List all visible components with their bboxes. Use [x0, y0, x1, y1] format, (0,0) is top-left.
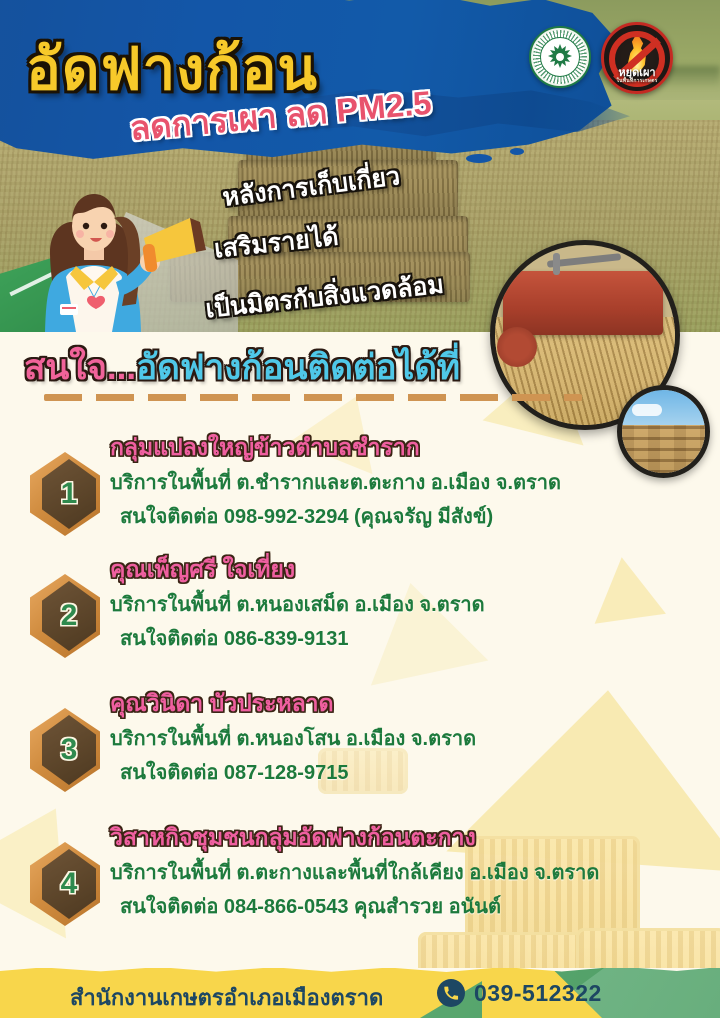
stacked-bales-photo [617, 385, 710, 478]
entry-number-badge: 1 [30, 452, 100, 536]
badge-number: 2 [61, 601, 78, 631]
badge-number: 1 [61, 479, 78, 509]
footer-phone-number: 039-512322 [474, 980, 602, 1007]
entry-service-area: บริการในพื้นที่ ต.ชำรากและต.ตะกาง อ.เมือ… [110, 466, 561, 498]
entry-number-badge: 3 [30, 708, 100, 792]
dashed-divider [44, 394, 582, 401]
entry-contact[interactable]: สนใจติดต่อ 087-128-9715 [120, 756, 348, 788]
entry-contact[interactable]: สนใจติดต่อ 086-839-9131 [120, 622, 348, 654]
entry-title: คุณเพ็ญศรี ใจเที่ยง [110, 552, 295, 588]
baler-wheel [497, 327, 537, 367]
entry-number-badge: 2 [30, 574, 100, 658]
brush-speck [510, 148, 524, 155]
entry-contact[interactable]: สนใจติดต่อ 098-992-3294 (คุณจรัญ มีสังข์… [120, 500, 493, 532]
section-header-pink: สนใจ... [24, 348, 136, 387]
entry-service-area: บริการในพื้นที่ ต.หนองเสม็ด อ.เมือง จ.ตร… [110, 588, 485, 620]
cloud [632, 404, 662, 416]
stop-burning-logo: หยุดเผา ในพื้นที่การเกษตร [601, 22, 673, 94]
garuda-emblem-icon [540, 37, 580, 77]
deity-figure-icon [545, 42, 575, 72]
bale-stack [622, 425, 705, 473]
baler-arm-vertical [553, 253, 560, 275]
badge-number: 4 [61, 869, 78, 899]
hay-bale-illustration [418, 932, 586, 968]
entry-contact[interactable]: สนใจติดต่อ 084-866-0543 คุณสำรวย อนันต์ [120, 890, 501, 922]
baler-body [503, 271, 663, 335]
stop-burning-label: หยุดเผา ในพื้นที่การเกษตร [604, 68, 670, 84]
farmer-woman-illustration [18, 178, 228, 332]
decorative-triangle [586, 552, 666, 623]
entry-title: วิสาหกิจชุมชนกลุ่มอัดฟางก้อนตะกาง [110, 820, 476, 856]
footer-office-name: สำนักงานเกษตรอำเภอเมืองตราด [70, 980, 383, 1015]
department-of-agriculture-logo [529, 26, 591, 88]
woman-megaphone-svg [18, 178, 228, 332]
footer-bar: สำนักงานเกษตรอำเภอเมืองตราด 039-512322 [0, 968, 720, 1018]
entry-service-area: บริการในพื้นที่ ต.หนองโสน อ.เมือง จ.ตราด [110, 722, 476, 754]
entry-service-area: บริการในพื้นที่ ต.ตะกางและพื้นที่ใกล้เคี… [110, 856, 599, 888]
entry-number-badge: 4 [30, 842, 100, 926]
stop-burning-subtext: ในพื้นที่การเกษตร [604, 79, 670, 84]
hay-bale-illustration [576, 928, 720, 968]
entry-title: กลุ่มแปลงใหญ่ข้าวตำบลชำราก [110, 430, 420, 466]
section-header-cyan: อัดฟางก้อนติดต่อได้ที่ [136, 348, 460, 387]
poster-root: อัดฟางก้อน ลดการเผา ลด PM2.5 หลังการเก็บ… [0, 0, 720, 1018]
phone-icon [437, 979, 465, 1007]
entry-title: คุณวินิดา บัวประหลาด [110, 686, 334, 722]
footer-phone-group[interactable]: 039-512322 [437, 979, 602, 1007]
badge-number: 3 [61, 735, 78, 765]
brush-speck [466, 154, 492, 163]
section-header: สนใจ...อัดฟางก้อนติดต่อได้ที่ [24, 340, 460, 395]
